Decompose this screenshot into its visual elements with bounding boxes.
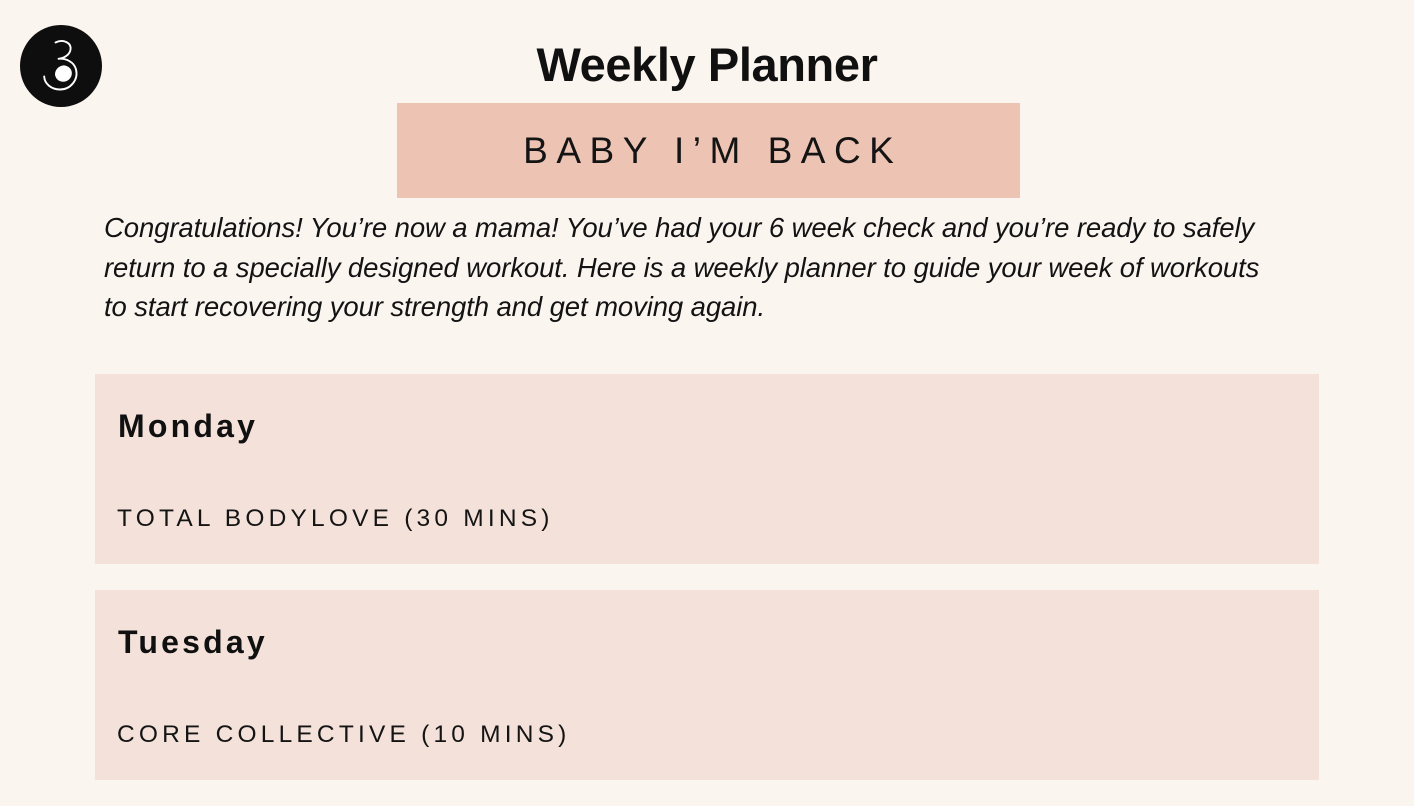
planner-day-list: Monday TOTAL BODYLOVE (30 MINS) Tuesday … bbox=[95, 374, 1319, 806]
planner-day-card[interactable]: Monday TOTAL BODYLOVE (30 MINS) bbox=[95, 374, 1319, 564]
day-name-label: Tuesday bbox=[118, 623, 268, 661]
weekly-planner-page: Weekly Planner BABY I’M BACK Congratulat… bbox=[0, 0, 1414, 795]
page-title: Weekly Planner bbox=[0, 36, 1414, 94]
planner-day-card[interactable]: Tuesday CORE COLLECTIVE (10 MINS) bbox=[95, 590, 1319, 780]
intro-paragraph: Congratulations! You’re now a mama! You’… bbox=[104, 208, 1289, 327]
day-workout-label: CORE COLLECTIVE (10 MINS) bbox=[117, 720, 571, 750]
program-banner: BABY I’M BACK bbox=[397, 103, 1020, 198]
day-workout-label: TOTAL BODYLOVE (30 MINS) bbox=[117, 504, 554, 534]
program-banner-label: BABY I’M BACK bbox=[515, 131, 903, 171]
day-name-label: Monday bbox=[118, 407, 258, 445]
